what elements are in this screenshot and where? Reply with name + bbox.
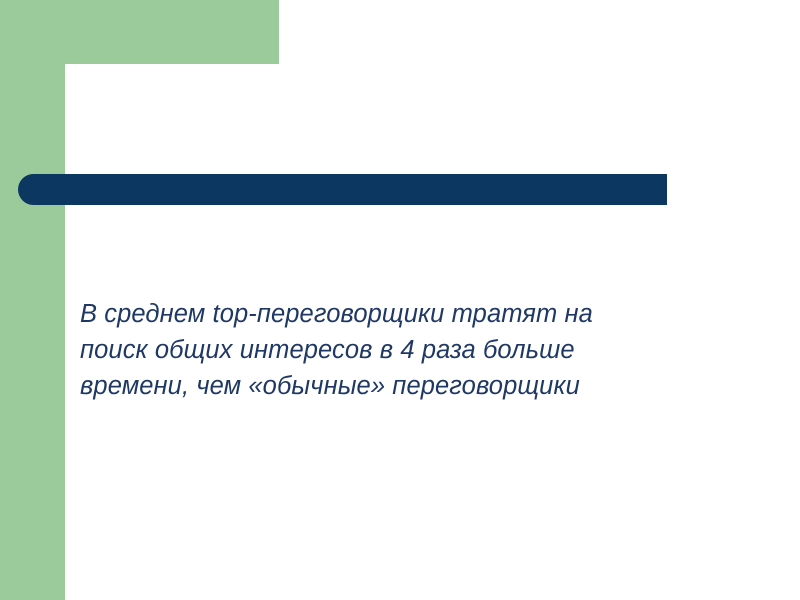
slide-body-text: В среднем top-переговорщики тратят на по… [80, 296, 705, 404]
body-text-line-3: времени, чем «обычные» переговорщики [80, 368, 705, 404]
body-text-line-1: В среднем top-переговорщики тратят на [80, 296, 705, 332]
presentation-slide: В среднем top-переговорщики тратят на по… [0, 0, 800, 600]
green-sidebar-stripe [0, 0, 65, 600]
green-top-band [0, 0, 279, 64]
body-text-line-2: поиск общих интересов в 4 раза больше [80, 332, 705, 368]
navy-accent-bar [18, 174, 667, 205]
